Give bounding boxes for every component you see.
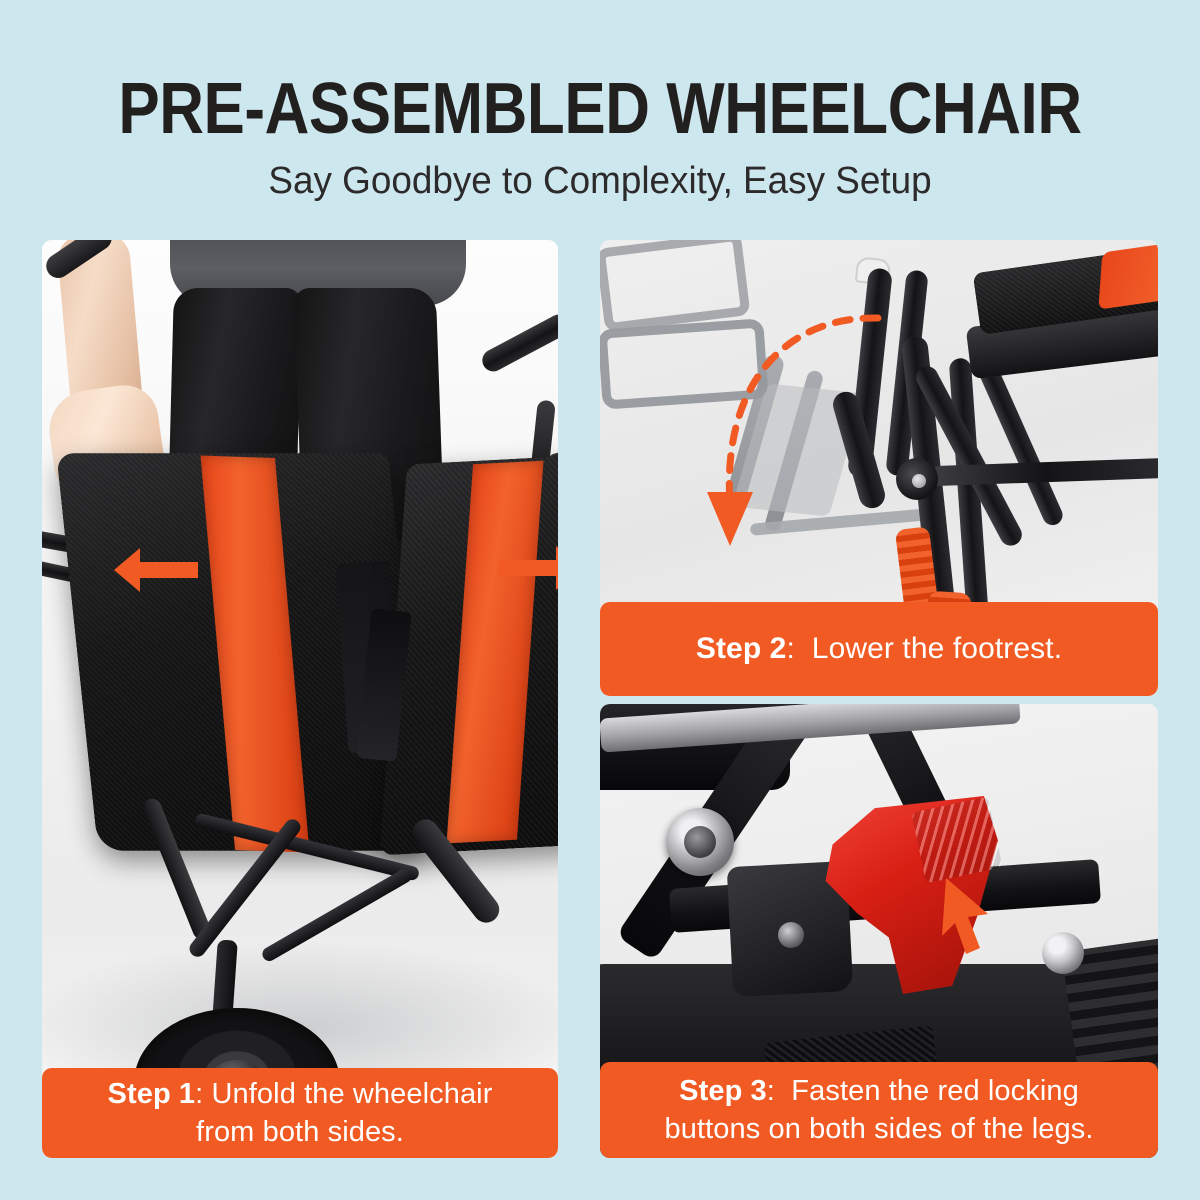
step-1-caption: Step 1: Unfold the wheelchair from both … (42, 1068, 558, 1158)
page-title: PRE-ASSEMBLED WHEELCHAIR (84, 72, 1116, 146)
curved-dashed-arrow-icon (688, 296, 1018, 616)
step-1-separator: : (195, 1078, 203, 1110)
step-2-caption: Step 2: Lower the footrest. (600, 602, 1158, 696)
arrow-left-icon (110, 542, 202, 598)
page-subtitle: Say Goodbye to Complexity, Easy Setup (18, 158, 1182, 204)
step-2-caption-text: Step 2: Lower the footrest. (696, 629, 1062, 669)
cushion-orange-stripe (1098, 242, 1158, 309)
step-2-text-line1: Lower the footrest. (812, 632, 1062, 665)
step-panel-1: Step 1: Unfold the wheelchair from both … (42, 240, 558, 1158)
step-3-caption: Step 3: Fasten the red locking buttons o… (600, 1062, 1158, 1158)
step-2-label: Step 2 (696, 632, 787, 665)
step-panel-3: Step 3: Fasten the red locking buttons o… (600, 704, 1158, 1158)
pivot-bolt-inner (684, 826, 716, 858)
step-1-label: Step 1 (108, 1078, 196, 1110)
step-3-text-line1: Fasten the red locking (791, 1075, 1079, 1107)
step-1-caption-text: Step 1: Unfold the wheelchair from both … (108, 1075, 493, 1151)
step-3-label: Step 3 (679, 1075, 767, 1107)
step-1-text-line2: from both sides. (196, 1116, 404, 1148)
infographic-page: PRE-ASSEMBLED WHEELCHAIR Say Goodbye to … (0, 0, 1200, 1200)
cursor-arrow-icon (936, 874, 1012, 966)
step-1-photo (42, 240, 558, 1158)
step-3-text-line2: buttons on both sides of the legs. (664, 1113, 1093, 1145)
hex-screw (778, 922, 804, 948)
header: PRE-ASSEMBLED WHEELCHAIR Say Goodbye to … (0, 0, 1200, 232)
step-3-separator: : (767, 1075, 775, 1107)
arrow-right-icon (494, 540, 558, 596)
step-panel-2: Step 2: Lower the footrest. (600, 240, 1158, 696)
step-1-text-line1: Unfold the wheelchair (212, 1078, 493, 1110)
step-2-separator: : (786, 632, 794, 665)
step-3-caption-text: Step 3: Fasten the red locking buttons o… (664, 1072, 1093, 1148)
silver-bolt (1042, 932, 1084, 974)
